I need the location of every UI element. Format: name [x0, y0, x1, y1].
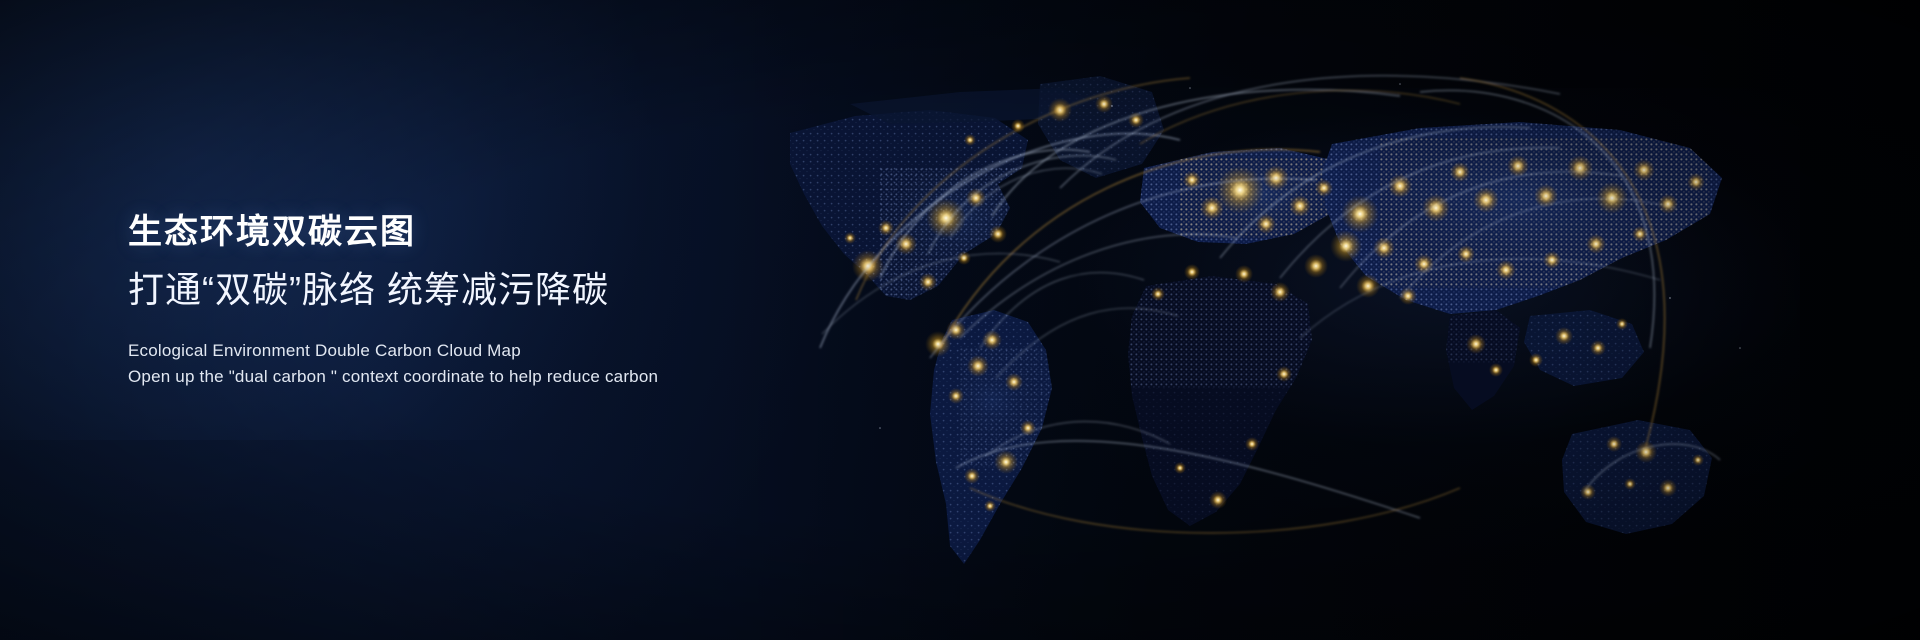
- city-light: [1507, 155, 1529, 177]
- city-light: [946, 320, 966, 340]
- city-light: [964, 468, 980, 484]
- region-australia: [1550, 413, 1730, 543]
- city-light: [948, 388, 964, 404]
- city-light: [1151, 287, 1165, 301]
- city-light: [1590, 340, 1606, 356]
- city-light: [1330, 230, 1362, 262]
- city-light: [994, 450, 1018, 474]
- city-light: [1315, 179, 1333, 197]
- city-light: [1304, 254, 1328, 278]
- city-light: [1466, 334, 1486, 354]
- city-light: [1567, 155, 1593, 181]
- city-light: [919, 273, 937, 291]
- city-light: [984, 500, 996, 512]
- city-light: [1422, 194, 1450, 222]
- city-light: [1692, 454, 1704, 466]
- city-light: [1184, 264, 1200, 280]
- city-light: [967, 355, 989, 377]
- city-light: [1388, 174, 1412, 198]
- city-light: [1633, 159, 1655, 181]
- city-light: [1200, 196, 1224, 220]
- city-light: [1687, 173, 1705, 191]
- page-subtitle-english-line2: Open up the "dual carbon " context coord…: [128, 364, 808, 390]
- map-svg: [760, 48, 1920, 608]
- city-light: [1473, 187, 1499, 213]
- region-southeast-asia: [1515, 303, 1655, 398]
- city-light: [1011, 119, 1025, 133]
- city-light: [1005, 373, 1023, 391]
- city-light: [1174, 462, 1186, 474]
- city-light: [1356, 274, 1380, 298]
- city-light: [1457, 245, 1475, 263]
- banner-root: 生态环境双碳云图 打通“双碳”脉络 统筹减污降碳 Ecological Envi…: [0, 0, 1920, 640]
- city-light: [1276, 366, 1292, 382]
- city-light: [964, 134, 976, 146]
- page-subtitle-english-line1: Ecological Environment Double Carbon Clo…: [128, 338, 808, 364]
- city-light: [878, 220, 894, 236]
- city-light: [1341, 195, 1379, 233]
- city-light: [1586, 234, 1606, 254]
- world-night-lights-map: [760, 48, 1920, 608]
- city-light: [1020, 420, 1036, 436]
- city-light: [1270, 282, 1290, 302]
- city-light: [1245, 437, 1259, 451]
- city-light: [1659, 479, 1677, 497]
- city-light: [1529, 353, 1543, 367]
- region-india: [1440, 303, 1530, 410]
- city-light: [1555, 327, 1573, 345]
- hero-text-block: 生态环境双碳云图 打通“双碳”脉络 统筹减污降碳 Ecological Envi…: [128, 212, 808, 390]
- city-light: [1616, 318, 1628, 330]
- city-light: [1606, 436, 1622, 452]
- city-light: [1289, 195, 1311, 217]
- map-landmasses: [760, 68, 1740, 578]
- city-light: [957, 251, 971, 265]
- city-light: [844, 232, 856, 244]
- page-subtitle-chinese: 打通“双碳”脉络 统筹减污降碳: [128, 267, 808, 312]
- city-light: [1624, 478, 1636, 490]
- city-light: [1235, 265, 1253, 283]
- city-light: [1095, 95, 1113, 113]
- city-light: [1209, 491, 1227, 509]
- page-title: 生态环境双碳云图: [128, 212, 808, 253]
- city-light: [1450, 162, 1470, 182]
- city-light: [989, 225, 1007, 243]
- city-light: [1496, 260, 1516, 280]
- city-light: [1534, 184, 1558, 208]
- city-light: [1489, 363, 1503, 377]
- city-light: [1596, 182, 1628, 214]
